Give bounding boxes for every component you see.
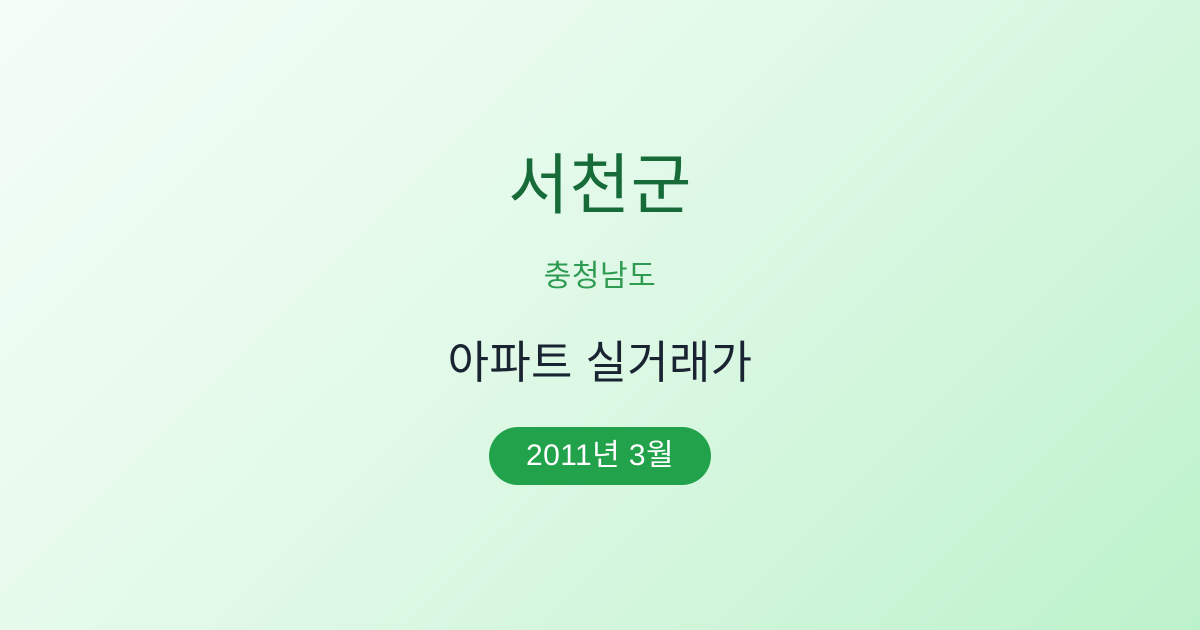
period-badge: 2011년 3월 [489,427,711,485]
info-card: 서천군 충청남도 아파트 실거래가 2011년 3월 [0,0,1200,630]
province-subtitle: 충청남도 [544,262,656,292]
region-title: 서천군 [508,152,692,218]
card-content: 서천군 충청남도 아파트 실거래가 2011년 3월 [0,152,1200,485]
dataset-heading: 아파트 실거래가 [448,340,753,385]
